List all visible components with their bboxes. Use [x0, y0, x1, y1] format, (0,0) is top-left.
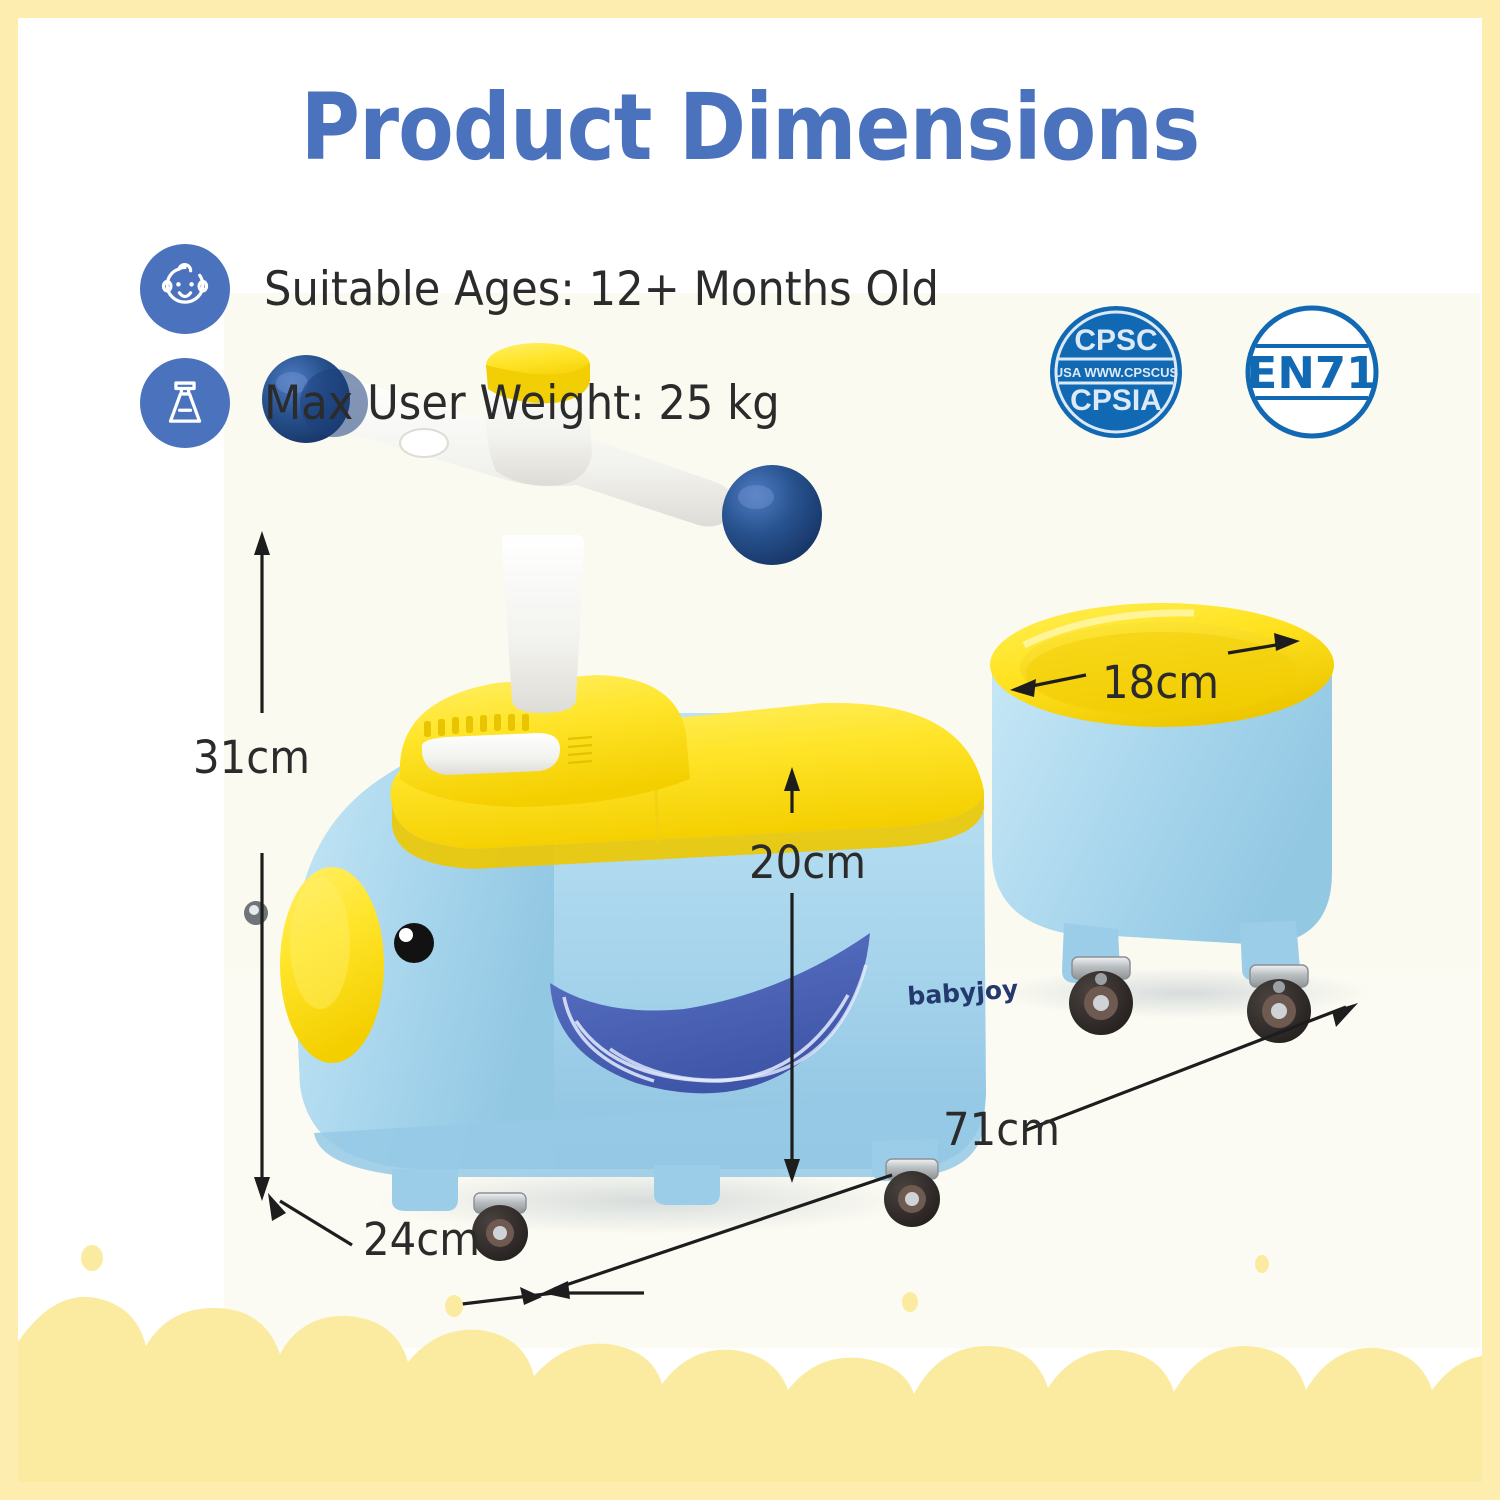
grab-handle: [422, 733, 560, 775]
weight-scale-icon: [140, 358, 230, 448]
en71-badge: EN71: [1242, 302, 1382, 442]
cpsia-text: CPSIA: [1070, 384, 1162, 417]
dimension-label-height: 31cm: [193, 731, 310, 784]
elephant-eye-highlight: [399, 928, 413, 942]
floor-shadow-trailer: [994, 967, 1374, 1019]
spec-row-max-weight: Max User Weight: 25 kg: [140, 358, 825, 448]
page-title: Product Dimensions: [106, 74, 1394, 181]
infographic-page: Product Dimensions Suitable Ages: 12+ Mo…: [0, 0, 1500, 1500]
en71-text: EN71: [1247, 348, 1378, 398]
spec-label-suitable-ages: Suitable Ages: 12+ Months Old: [264, 262, 939, 317]
certification-badges: CPSC USA WWW.CPSCUS CPSIA EN71: [1046, 302, 1382, 442]
body-foot-1: [392, 1169, 458, 1211]
trailer-caster-left: [1069, 957, 1133, 1035]
body-foot-2: [654, 1165, 720, 1205]
dimension-label-width: 24cm: [363, 1213, 480, 1266]
spec-row-suitable-ages: Suitable Ages: 12+ Months Old: [140, 244, 998, 334]
spec-label-max-weight: Max User Weight: 25 kg: [264, 376, 780, 431]
baby-face-icon: [140, 244, 230, 334]
bubble-dot-1: [81, 1245, 103, 1271]
steering-column: [502, 535, 584, 713]
cpsc-url-text: USA WWW.CPSCUS: [1054, 365, 1179, 380]
body-caster-rear: [884, 1159, 940, 1227]
elephant-eye: [394, 923, 434, 963]
dimension-label-length: 71cm: [943, 1103, 1060, 1156]
dimension-label-seat-height: 20cm: [749, 836, 866, 889]
dim-line-31cm: [254, 531, 270, 1201]
dimension-label-basket-width: 18cm: [1102, 656, 1219, 709]
grip-right: [722, 465, 822, 565]
cpsc-cpsia-badge: CPSC USA WWW.CPSCUS CPSIA: [1046, 302, 1186, 442]
product-illustration: babyjoy: [224, 293, 1480, 1343]
cpsc-text: CPSC: [1074, 324, 1157, 357]
body-caster-front: [472, 1193, 528, 1261]
